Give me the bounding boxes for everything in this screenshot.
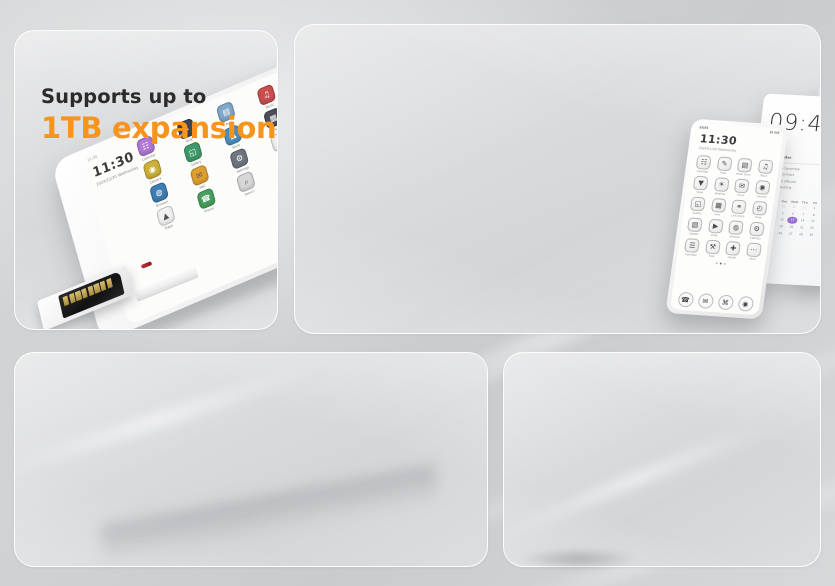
app-label: Calendar [697,169,709,173]
app-icon-note[interactable]: ✎Note [714,156,735,175]
panel-battery-life: 09:41 am Reminder No items 2024/11/ SunM… [503,352,821,567]
app-glyph: ⚒ [705,239,721,254]
card-contacts [63,278,113,306]
app-icon-video[interactable]: ▶Video [705,218,726,237]
app-icon-camera[interactable]: ◉Camera [752,179,773,198]
app-glyph: ◉ [755,180,771,195]
panel-gloss [504,353,820,566]
app-icon-email[interactable]: ✉Email [731,178,752,197]
app-glyph: ▲ [156,204,176,227]
promo-collage: Supports up to 1TB expansion 11:30 ▮▮ ▮ … [0,0,835,586]
expansion-caption-line1: Supports up to [41,85,206,108]
app-label: More [749,257,756,260]
app-icon-tools[interactable]: ⚒Tools [702,239,723,258]
expansion-artwork: 11:30 ▮▮ ▮ 11:30 2024/11/20 Wednesday ☷C… [15,31,277,329]
app-glyph: ✎ [716,156,732,171]
calendar-day[interactable]: 30 [816,231,821,238]
app-icon-book-store[interactable]: ▤Book Store [734,157,755,176]
app-label: Weather [715,192,726,196]
app-icon-calendar[interactable]: ☰Calendar [682,237,703,256]
status-icons-right: ▮▮ ▮▮▮ [769,130,779,135]
app-icon-music[interactable]: ♫Music [755,159,776,178]
dock: ☎✉⌘◉ [674,291,756,311]
app-label: Settings [750,236,761,240]
app-glyph: ♫ [757,159,773,174]
app-label: Link Store [731,214,744,218]
app-icon-more[interactable]: ⋯More [743,242,764,261]
app-label: Calendar [685,253,697,257]
app-label: Book Store [736,172,751,176]
expansion-caption: Supports up to 1TB expansion [41,86,276,144]
app-glyph: ◱ [690,196,706,211]
app-label: Tools [708,254,715,257]
app-glyph: ✚ [725,241,741,256]
app-label: Gallery [692,211,702,215]
app-glyph: ▤ [737,157,753,172]
dock-phone-icon[interactable]: ☎ [677,292,694,308]
app-icon-gallery[interactable]: ◱Gallery [687,196,708,215]
app-label: Music [760,174,768,177]
app-icon-files[interactable]: ▦Files [708,197,729,216]
app-glyph: ✉ [734,178,750,193]
panel-streak [14,361,319,481]
app-icon-browser[interactable]: ◍Browser [725,220,746,239]
panel-super-fast-refresh: 9:41 ▮▮▮ ⚲ Search FeaturedRemoteFulltime… [294,24,821,334]
app-glyph: ⚙ [749,221,765,236]
app-glyph: ☀ [714,177,730,192]
app-icon-reader[interactable]: ▧Reader [684,217,705,236]
weekday-label: Sat [820,201,821,206]
app-icon-health[interactable]: ✚Health [723,240,744,259]
app-grid: ☷Calendar✎Note▤Book Store♫Music▼Store☀We… [682,154,776,261]
app-glyph: ▦ [711,197,727,212]
app-glyph: ⚭ [731,199,747,214]
app-label: Store [696,190,703,193]
app-label: Note [720,171,727,174]
app-icon-link-store[interactable]: ⚭Link Store [728,199,749,218]
phone-device-tilted: ▮▮▮▮▮ ▮▮ ▮▮▮ 11:30 2024/11/20 Wednesday … [665,119,788,320]
phone-shadow [518,548,638,570]
app-label: Files [714,213,720,216]
dock-message-icon[interactable]: ✉ [697,293,714,309]
app-label: Video [711,233,719,236]
app-icon-calendar[interactable]: ☷Calendar [693,154,714,173]
app-label: Reader [689,232,699,236]
app-glyph: ◴ [752,200,768,215]
app-glyph: ▶ [708,218,724,233]
app-label: Clock [755,215,762,218]
app-label: Camera [756,195,767,199]
app-glyph: ▧ [687,217,703,232]
app-label: Health [727,256,736,260]
page-dot [724,262,726,264]
expansion-caption-line2: 1TB expansion [41,112,276,144]
dock-voice-icon[interactable]: ⌘ [717,294,734,310]
app-glyph: ▼ [693,175,709,190]
app-glyph: ☰ [684,238,700,253]
phone-screen-homescreen: ▮▮▮▮▮ ▮▮ ▮▮▮ 11:30 2024/11/20 Wednesday … [670,123,784,315]
status-time: 11:30 [87,155,98,163]
dock-camera-icon[interactable]: ◉ [737,296,754,312]
app-glyph: ☷ [696,154,712,169]
app-label: Email [737,193,745,196]
app-icon-weather[interactable]: ☀Weather [711,177,732,196]
page-dot [716,262,718,264]
app-glyph: ✉ [189,164,209,187]
app-glyph: ⋯ [746,242,762,257]
page-dot [720,262,722,264]
app-icon-clock[interactable]: ◴Clock [749,200,770,219]
status-icons-left: ▮▮▮▮▮ [699,125,708,130]
app-label: Browser [729,235,740,239]
app-icon-store[interactable]: ▼Store [690,175,711,194]
panel-streak [503,417,776,542]
panel-storage-expansion: Supports up to 1TB expansion 11:30 ▮▮ ▮ … [14,30,278,330]
app-glyph: ◍ [728,220,744,235]
app-icon-settings[interactable]: ⚙Settings [746,221,767,240]
